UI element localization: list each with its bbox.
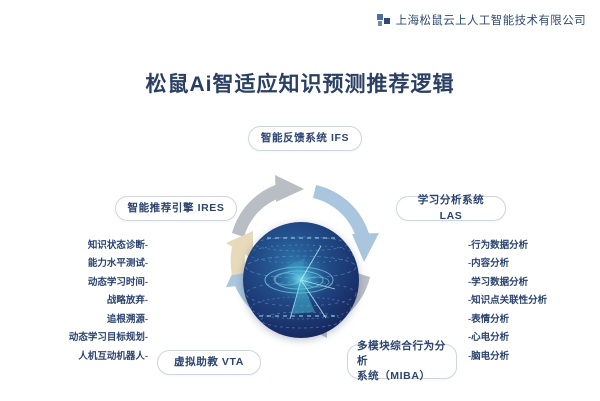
dash-marker: - — [145, 296, 148, 306]
node-las[interactable]: 学习分析系统 LAS — [396, 196, 506, 221]
list-item-label: 学习数据分析 — [471, 278, 528, 288]
slide-canvas: 上海松鼠云上人工智能技术有限公司 松鼠Ai智适应知识预测推荐逻辑 — [0, 0, 600, 401]
list-item-label: 动态学习时间 — [88, 278, 145, 288]
list-item: 战略放弃- — [8, 292, 148, 311]
node-ifs-label: 智能反馈系统 IFS — [261, 131, 349, 146]
list-item: 动态学习时间- — [8, 273, 148, 292]
dash-marker: - — [145, 315, 148, 325]
list-item-label: 脑电分析 — [471, 352, 509, 362]
list-item-label: 动态学习目标规划 — [69, 333, 145, 343]
node-miba-label-line2: 系统（MIBA） — [357, 369, 431, 384]
dash-marker: - — [145, 333, 148, 343]
node-ires[interactable]: 智能推荐引擎 IRES — [115, 196, 237, 221]
company-branding: 上海松鼠云上人工智能技术有限公司 — [377, 12, 586, 28]
list-item: -脑电分析 — [468, 347, 598, 366]
tech-globe-sphere — [243, 222, 359, 338]
node-ires-label: 智能推荐引擎 IRES — [127, 201, 224, 216]
node-vta-label: 虚拟助教 VTA — [174, 355, 244, 370]
list-item: 知识状态诊断- — [8, 236, 148, 255]
list-item-label: 战略放弃 — [107, 296, 145, 306]
list-item: -行为数据分析 — [468, 236, 598, 255]
list-item: -学习数据分析 — [468, 273, 598, 292]
dash-marker: - — [145, 259, 148, 269]
list-item: 人机互动机器人- — [8, 347, 148, 366]
list-item: -内容分析 — [468, 255, 598, 274]
right-feature-list: -行为数据分析 -内容分析 -学习数据分析 -知识点关联性分析 -表情分析 -心… — [468, 236, 598, 366]
list-item-label: 行为数据分析 — [471, 241, 528, 251]
list-item: 追根溯源- — [8, 310, 148, 329]
squares-logo-icon — [377, 14, 390, 27]
list-item-label: 人机互动机器人 — [78, 352, 145, 362]
dash-marker: - — [145, 352, 148, 362]
list-item: -心电分析 — [468, 329, 598, 348]
node-miba[interactable]: 多模块综合行为分析 系统（MIBA） — [347, 344, 457, 379]
dash-marker: - — [145, 241, 148, 251]
list-item: 动态学习目标规划- — [8, 329, 148, 348]
node-ifs[interactable]: 智能反馈系统 IFS — [248, 126, 362, 151]
left-feature-list: 知识状态诊断- 能力水平测试- 动态学习时间- 战略放弃- 追根溯源- 动态学习… — [8, 236, 148, 366]
node-miba-label-line1: 多模块综合行为分析 — [357, 339, 447, 369]
page-title: 松鼠Ai智适应知识预测推荐逻辑 — [0, 68, 600, 98]
list-item-label: 内容分析 — [471, 259, 509, 269]
company-name: 上海松鼠云上人工智能技术有限公司 — [396, 12, 586, 28]
dash-marker: - — [145, 278, 148, 288]
list-item-label: 追根溯源 — [107, 315, 145, 325]
globe-detail — [246, 237, 356, 328]
list-item: -表情分析 — [468, 310, 598, 329]
list-item-label: 能力水平测试 — [88, 259, 145, 269]
node-las-label: 学习分析系统 LAS — [407, 193, 495, 223]
list-item: -知识点关联性分析 — [468, 292, 598, 311]
list-item-label: 知识状态诊断 — [88, 241, 145, 251]
node-vta[interactable]: 虚拟助教 VTA — [157, 350, 261, 375]
list-item-label: 心电分析 — [471, 333, 509, 343]
list-item-label: 知识点关联性分析 — [471, 296, 547, 306]
list-item: 能力水平测试- — [8, 255, 148, 274]
list-item-label: 表情分析 — [471, 315, 509, 325]
